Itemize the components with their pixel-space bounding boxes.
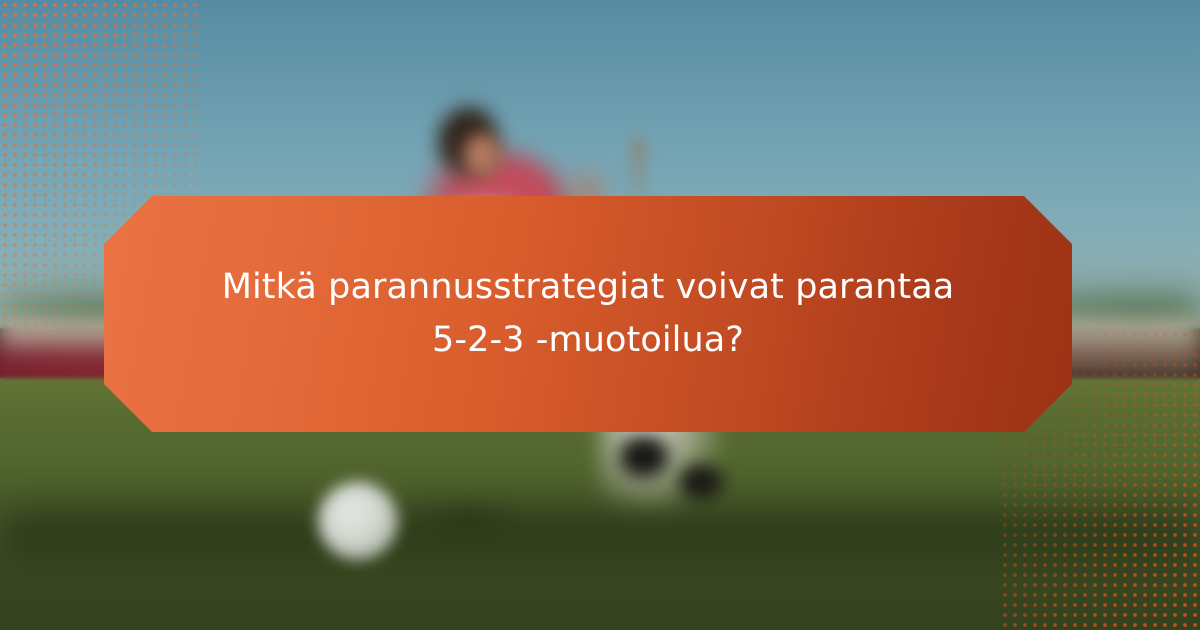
headline-banner: Mitkä parannusstrategiat voivat parantaa… [104, 196, 1072, 432]
headline-text: Mitkä parannusstrategiat voivat parantaa… [168, 261, 1008, 367]
social-card: Mitkä parannusstrategiat voivat parantaa… [0, 0, 1200, 630]
